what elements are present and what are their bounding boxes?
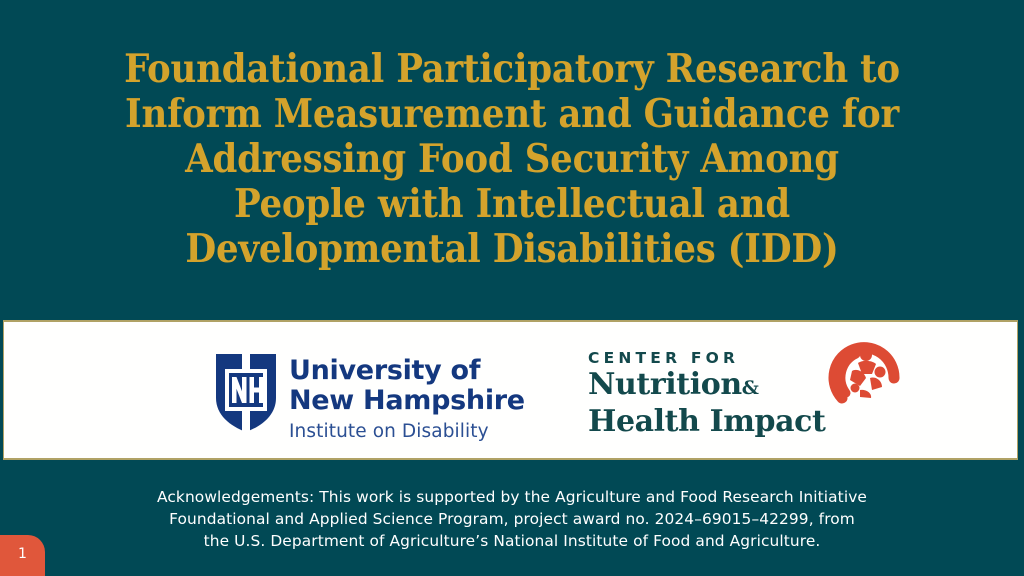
unh-subtitle: Institute on Disability [289, 416, 525, 444]
cnhi-ampersand: & [742, 377, 759, 399]
title-line-3: Addressing Food Security Among [40, 137, 984, 182]
unh-wordmark: University of New Hampshire Institute on… [289, 352, 525, 444]
presentation-slide: Foundational Participatory Research to I… [0, 0, 1024, 576]
ack-line-3: the U.S. Department of Agriculture’s Nat… [60, 530, 964, 552]
title-line-2: Inform Measurement and Guidance for [40, 92, 984, 137]
cnhi-line-1: Nutrition& [588, 368, 826, 405]
title-line-4: People with Intellectual and [40, 182, 984, 227]
unh-logo: University of New Hampshire Institute on… [215, 352, 525, 444]
cnhi-nutrition-text: Nutrition [588, 367, 742, 402]
unh-line-1: University of [289, 356, 525, 386]
title-line-1: Foundational Participatory Research to [40, 47, 984, 92]
acknowledgements: Acknowledgements: This work is supported… [60, 486, 964, 552]
ack-line-1: Acknowledgements: This work is supported… [60, 486, 964, 508]
unh-line-2: New Hampshire [289, 386, 525, 416]
slide-title: Foundational Participatory Research to I… [40, 47, 984, 272]
unh-shield-icon [215, 352, 277, 434]
cnhi-logo: CENTER FOR Nutrition& Health Impact [588, 348, 904, 439]
cnhi-circular-figure-icon [822, 338, 904, 412]
cnhi-wordmark: CENTER FOR Nutrition& Health Impact [588, 348, 826, 439]
title-line-5: Developmental Disabilities (IDD) [40, 227, 984, 272]
ack-line-2: Foundational and Applied Science Program… [60, 508, 964, 530]
cnhi-eyebrow: CENTER FOR [588, 348, 826, 368]
cnhi-line-2: Health Impact [588, 405, 826, 439]
slide-number-badge: 1 [0, 535, 45, 576]
